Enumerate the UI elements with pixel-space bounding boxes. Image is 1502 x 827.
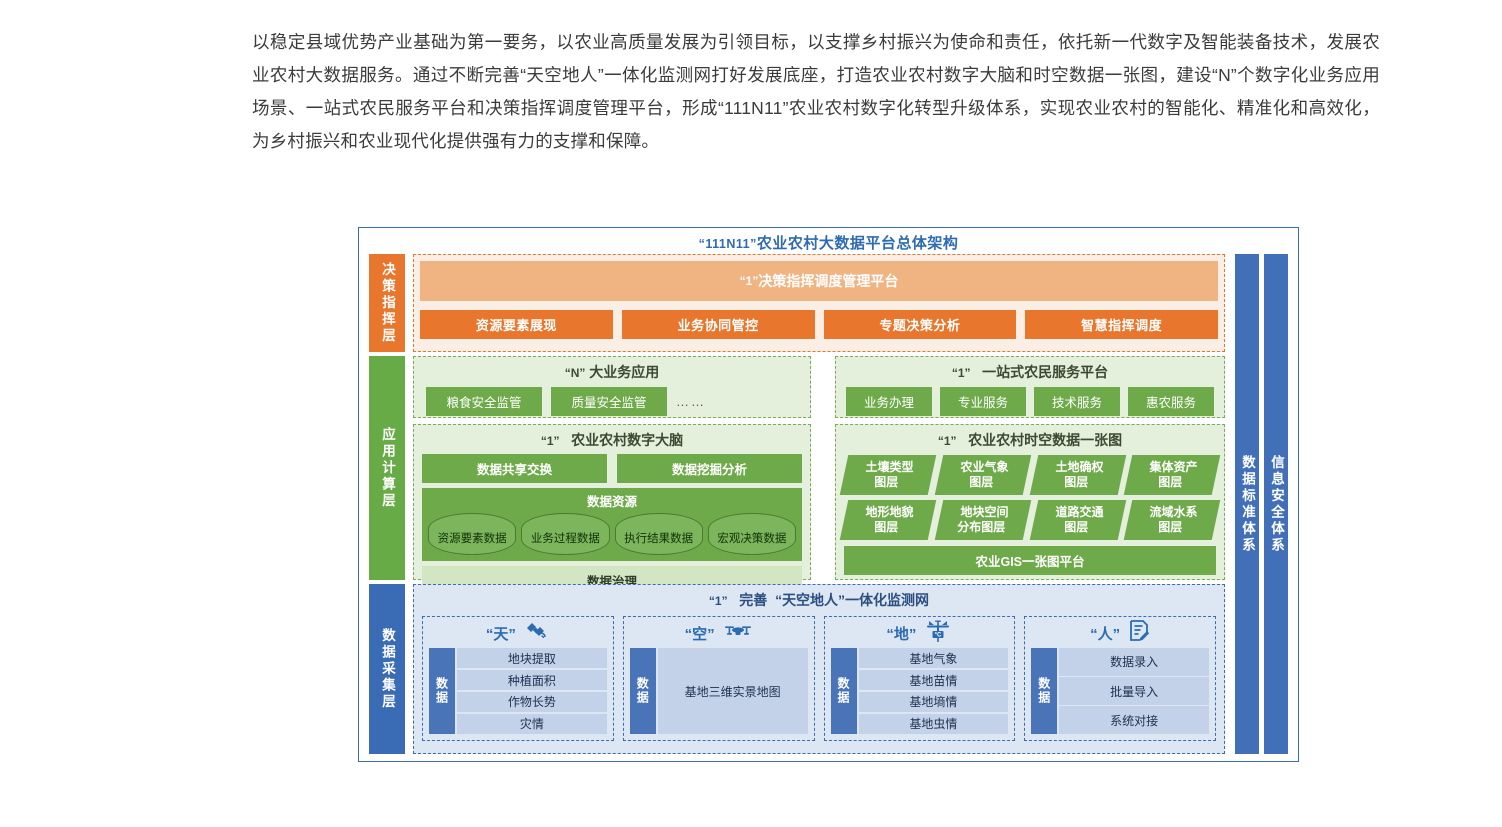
decision-platform-quote: “1” xyxy=(740,274,759,288)
source-human-item-3[interactable]: 系统对接 xyxy=(1059,706,1209,734)
decision-button-4[interactable]: 智慧指挥调度 xyxy=(1025,310,1218,339)
source-ground-item-3[interactable]: 基地墒情 xyxy=(859,692,1009,712)
farmer-chip-2[interactable]: 专业服务 xyxy=(940,387,1026,416)
title-main: 农业农村大数据平台总体架构 xyxy=(757,235,959,252)
data-resource-label: 数据资源 xyxy=(428,490,796,513)
source-human-header: “人” xyxy=(1031,621,1209,645)
business-apps-title: “N” 大业务应用 xyxy=(414,357,810,382)
brain-bar-share-exchange[interactable]: 数据共享交换 xyxy=(422,454,607,483)
collection-title-quote2: “天空地人” xyxy=(775,592,845,608)
source-sky-header: “天” xyxy=(429,621,607,645)
map-layer-collective-asset-l2: 图层 xyxy=(1127,475,1215,490)
source-human-label: “人” xyxy=(1090,623,1120,644)
source-sky-item-3[interactable]: 作物长势 xyxy=(457,692,607,712)
source-air-items: 基地三维实景地图 xyxy=(658,648,808,734)
application-right-column: “1” 一站式农民服务平台 业务办理 专业服务 技术服务 惠农服务 “1” 农业… xyxy=(835,356,1225,580)
business-apps-ellipsis: …… xyxy=(676,394,706,409)
farmer-platform-box: “1” 一站式农民服务平台 业务办理 专业服务 技术服务 惠农服务 xyxy=(835,356,1225,418)
farmer-platform-title: “1” 一站式农民服务平台 xyxy=(836,357,1224,382)
gis-platform-bar: 农业GIS一张图平台 xyxy=(844,546,1216,575)
source-air-drone: “空” xyxy=(623,616,815,741)
data-resource-group: 数据资源 资源要素数据 业务过程数据 执行结果数据 宏观决策数据 xyxy=(422,488,802,561)
source-ground-data-label: 数据 xyxy=(831,648,857,734)
decision-button-1[interactable]: 资源要素展现 xyxy=(420,310,613,339)
collection-title-quote: “1” xyxy=(709,594,728,608)
farmer-platform-title-quote: “1” xyxy=(952,366,971,380)
map-layer-land-right-l2: 图层 xyxy=(1032,475,1120,490)
map-layer-road-traffic[interactable]: 道路交通图层 xyxy=(1029,500,1125,540)
source-human-entry: “人” 数据 数据录入 xyxy=(1024,616,1216,741)
map-layer-agri-weather[interactable]: 农业气象图层 xyxy=(934,455,1030,495)
source-ground-body: 数据 基地气象 基地苗情 基地墒情 基地虫情 xyxy=(831,648,1009,734)
map-layer-terrain[interactable]: 地形地貌图层 xyxy=(840,500,936,540)
source-human-data-label: 数据 xyxy=(1031,648,1057,734)
decision-buttons-row: 资源要素展现 业务协同管控 专题决策分析 智慧指挥调度 xyxy=(420,310,1218,339)
data-cylinder-1: 资源要素数据 xyxy=(428,513,516,555)
satellite-icon xyxy=(524,621,550,645)
farmer-platform-title-main: 一站式农民服务平台 xyxy=(982,364,1108,380)
source-ground-label: “地” xyxy=(886,623,916,644)
source-air-header: “空” xyxy=(630,621,808,645)
source-sky-data-label: 数据 xyxy=(429,648,455,734)
source-sky-item-2[interactable]: 种植面积 xyxy=(457,670,607,690)
decision-layer-block: “1”决策指挥调度管理平台 资源要素展现 业务协同管控 专题决策分析 智慧指挥调… xyxy=(413,254,1225,352)
map-layer-road-traffic-l1: 道路交通 xyxy=(1035,505,1123,520)
map-layer-watershed[interactable]: 流域水系图层 xyxy=(1124,500,1220,540)
one-map-title: “1” 农业农村时空数据一张图 xyxy=(844,425,1216,450)
data-cylinder-4-label: 宏观决策数据 xyxy=(717,530,786,546)
form-edit-icon xyxy=(1128,619,1150,647)
collection-layer-block: “1” 完善 “天空地人”一体化监测网 “天” xyxy=(413,584,1225,754)
collection-sources-row: “天” 数据 xyxy=(414,610,1224,749)
vertical-system-info-security: 信息安全体系 xyxy=(1264,254,1288,754)
weather-station-icon: °C xyxy=(924,619,952,647)
source-sky-item-4[interactable]: 灾情 xyxy=(457,714,607,734)
farmer-chip-4[interactable]: 惠农服务 xyxy=(1128,387,1214,416)
one-map-title-quote: “1” xyxy=(938,434,957,448)
digital-brain-box: “1” 农业农村数字大脑 数据共享交换 数据挖掘分析 数据资源 资源要素数据 业… xyxy=(413,424,811,580)
map-layer-soil-type-l1: 土壤类型 xyxy=(846,460,934,475)
map-layer-parcel-distribution-l1: 地块空间 xyxy=(940,505,1028,520)
brain-bar-mining-analysis[interactable]: 数据挖掘分析 xyxy=(617,454,802,483)
source-human-items: 数据录入 批量导入 系统对接 xyxy=(1059,648,1209,734)
map-layer-parcel-distribution-l2: 分布图层 xyxy=(937,520,1025,535)
map-layer-collective-asset-l1: 集体资产 xyxy=(1130,460,1218,475)
drone-icon xyxy=(723,622,753,644)
map-layer-soil-type[interactable]: 土壤类型图层 xyxy=(840,455,936,495)
business-apps-title-quote: “N” xyxy=(565,366,586,380)
source-ground-item-4[interactable]: 基地虫情 xyxy=(859,714,1009,734)
business-app-chip-2[interactable]: 质量安全监管 xyxy=(551,387,667,416)
map-layer-land-right-l1: 土地确权 xyxy=(1035,460,1123,475)
business-app-chip-1[interactable]: 粮食安全监管 xyxy=(426,387,542,416)
decision-button-2[interactable]: 业务协同管控 xyxy=(622,310,815,339)
layer-tab-application: 应用计算层 xyxy=(369,356,405,580)
source-air-body: 数据 基地三维实景地图 xyxy=(630,648,808,734)
digital-brain-title: “1” 农业农村数字大脑 xyxy=(422,425,802,450)
data-cylinder-2-label: 业务过程数据 xyxy=(531,530,600,546)
source-sky-label: “天” xyxy=(486,623,516,644)
page-title: “111N11”农业农村大数据平台总体架构 xyxy=(359,232,1298,253)
farmer-chip-3[interactable]: 技术服务 xyxy=(1034,387,1120,416)
source-human-item-2[interactable]: 批量导入 xyxy=(1059,677,1209,705)
map-layer-road-traffic-l2: 图层 xyxy=(1032,520,1120,535)
map-layer-terrain-l1: 地形地貌 xyxy=(846,505,934,520)
collection-title-main: 一体化监测网 xyxy=(845,592,929,608)
data-resource-cylinders: 资源要素数据 业务过程数据 执行结果数据 宏观决策数据 xyxy=(428,513,796,555)
collection-layer-title: “1” 完善 “天空地人”一体化监测网 xyxy=(414,585,1224,610)
map-layer-parcel-distribution[interactable]: 地块空间分布图层 xyxy=(934,500,1030,540)
data-cylinder-1-label: 资源要素数据 xyxy=(438,530,507,546)
map-layer-collective-asset[interactable]: 集体资产图层 xyxy=(1124,455,1220,495)
business-apps-chip-row: 粮食安全监管 质量安全监管 …… xyxy=(414,382,810,416)
source-sky-item-1[interactable]: 地块提取 xyxy=(457,648,607,668)
source-ground-station: “地” °C xyxy=(824,616,1016,741)
source-air-data-label: 数据 xyxy=(630,648,656,734)
digital-brain-top-bars: 数据共享交换 数据挖掘分析 xyxy=(422,454,802,483)
application-left-column: “N” 大业务应用 粮食安全监管 质量安全监管 …… “1” 农业农村数字大脑 … xyxy=(413,356,811,580)
farmer-platform-chip-row: 业务办理 专业服务 技术服务 惠农服务 xyxy=(836,382,1224,416)
source-ground-item-1[interactable]: 基地气象 xyxy=(859,648,1009,668)
map-layer-row-2: 地形地貌图层 地块空间分布图层 道路交通图层 流域水系图层 xyxy=(844,500,1216,540)
source-ground-header: “地” °C xyxy=(831,621,1009,645)
map-layer-terrain-l2: 图层 xyxy=(842,520,930,535)
architecture-diagram: “111N11”农业农村大数据平台总体架构 决策指挥层 应用计算层 数据采集层 … xyxy=(358,227,1299,762)
map-layer-soil-type-l2: 图层 xyxy=(842,475,930,490)
map-layer-agri-weather-l1: 农业气象 xyxy=(940,460,1028,475)
one-map-box: “1” 农业农村时空数据一张图 土壤类型图层 农业气象图层 土地确权图层 集体资… xyxy=(835,424,1225,580)
vertical-system-data-standard: 数据标准体系 xyxy=(1235,254,1259,754)
source-ground-item-2[interactable]: 基地苗情 xyxy=(859,670,1009,690)
business-apps-title-main: 大业务应用 xyxy=(589,364,659,380)
decision-platform-bar: “1”决策指挥调度管理平台 xyxy=(420,261,1218,301)
one-map-title-main: 农业农村时空数据一张图 xyxy=(968,432,1122,448)
data-cylinder-3-label: 执行结果数据 xyxy=(624,530,693,546)
title-quote: “111N11” xyxy=(699,237,757,251)
farmer-chip-1[interactable]: 业务办理 xyxy=(846,387,932,416)
decision-button-3[interactable]: 专题决策分析 xyxy=(824,310,1017,339)
source-sky-satellite: “天” 数据 xyxy=(422,616,614,741)
source-ground-items: 基地气象 基地苗情 基地墒情 基地虫情 xyxy=(859,648,1009,734)
digital-brain-title-quote: “1” xyxy=(541,434,560,448)
source-sky-items: 地块提取 种植面积 作物长势 灾情 xyxy=(457,648,607,734)
intro-paragraph: 以稳定县域优势产业基础为第一要务，以农业高质量发展为引领目标，以支撑乡村振兴为使… xyxy=(252,26,1380,158)
data-cylinder-4: 宏观决策数据 xyxy=(708,513,796,555)
map-layer-watershed-l2: 图层 xyxy=(1127,520,1215,535)
source-sky-body: 数据 地块提取 种植面积 作物长势 灾情 xyxy=(429,648,607,734)
data-cylinder-2: 业务过程数据 xyxy=(521,513,609,555)
layer-tab-collection: 数据采集层 xyxy=(369,584,405,754)
digital-brain-title-main: 农业农村数字大脑 xyxy=(571,432,683,448)
business-apps-box: “N” 大业务应用 粮食安全监管 质量安全监管 …… xyxy=(413,356,811,418)
map-layer-land-right[interactable]: 土地确权图层 xyxy=(1029,455,1125,495)
map-layer-agri-weather-l2: 图层 xyxy=(937,475,1025,490)
svg-text:°C: °C xyxy=(935,632,942,638)
decision-platform-label: 决策指挥调度管理平台 xyxy=(758,271,898,291)
collection-title-word: 完善 xyxy=(739,592,767,608)
map-layer-row-1: 土壤类型图层 农业气象图层 土地确权图层 集体资产图层 xyxy=(844,455,1216,495)
source-air-label: “空” xyxy=(685,623,715,644)
layer-tab-decision: 决策指挥层 xyxy=(369,254,405,352)
data-cylinder-3: 执行结果数据 xyxy=(615,513,703,555)
source-air-item-1[interactable]: 基地三维实景地图 xyxy=(658,648,808,734)
source-human-item-1[interactable]: 数据录入 xyxy=(1059,648,1209,676)
source-human-body: 数据 数据录入 批量导入 系统对接 xyxy=(1031,648,1209,734)
map-layer-watershed-l1: 流域水系 xyxy=(1130,505,1218,520)
